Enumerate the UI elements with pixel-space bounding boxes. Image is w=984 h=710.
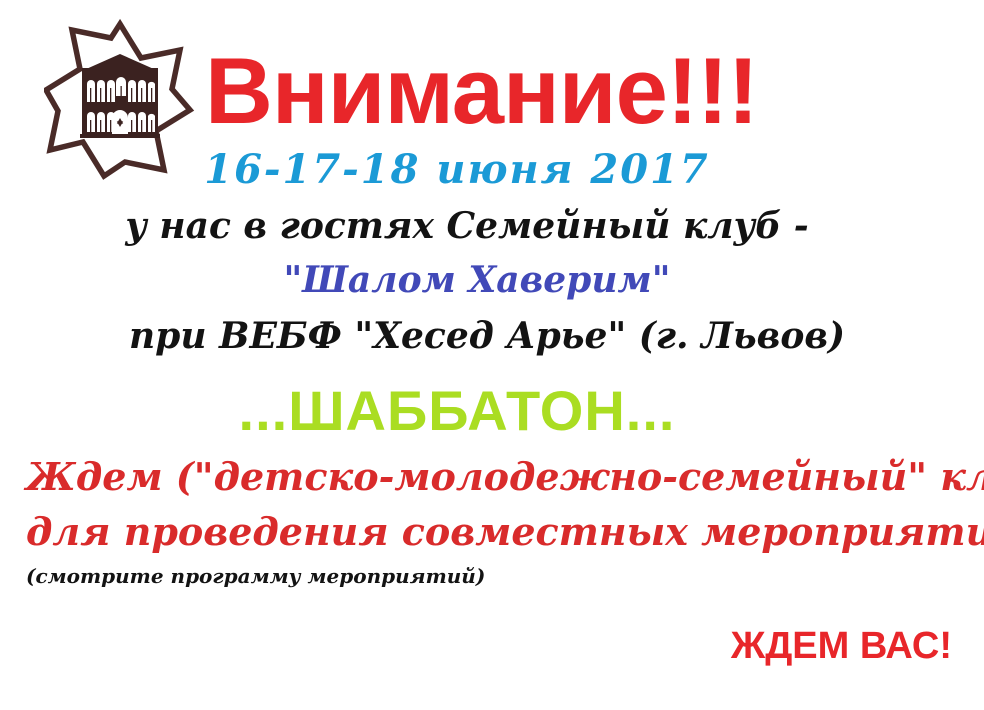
closing-call-to-action: ЖДЕМ ВАС!: [731, 627, 952, 665]
announcement-poster: Внимание!!! 16-17-18 июня 2017 у нас в г…: [0, 0, 984, 710]
synagogue-building-icon: [80, 54, 160, 138]
event-date-line: 16-17-18 июня 2017: [0, 150, 949, 190]
page-title: Внимание!!!: [205, 44, 758, 138]
club-name-line: "Шалом Хаверим": [0, 262, 969, 298]
organization-line: при ВЕБФ "Хесед Арье" (г. Львов): [0, 318, 979, 354]
event-name-heading: ...ШАББАТОН...: [0, 383, 949, 439]
invitation-line-1: Ждем ("детско-молодежно-семейный" клуб): [26, 458, 984, 496]
programme-note: (смотрите программу мероприятий): [26, 566, 485, 586]
invitation-line-2: для проведения совместных мероприятий.: [26, 513, 984, 551]
guest-intro-line: у нас в гостях Семейный клуб -: [0, 208, 959, 244]
